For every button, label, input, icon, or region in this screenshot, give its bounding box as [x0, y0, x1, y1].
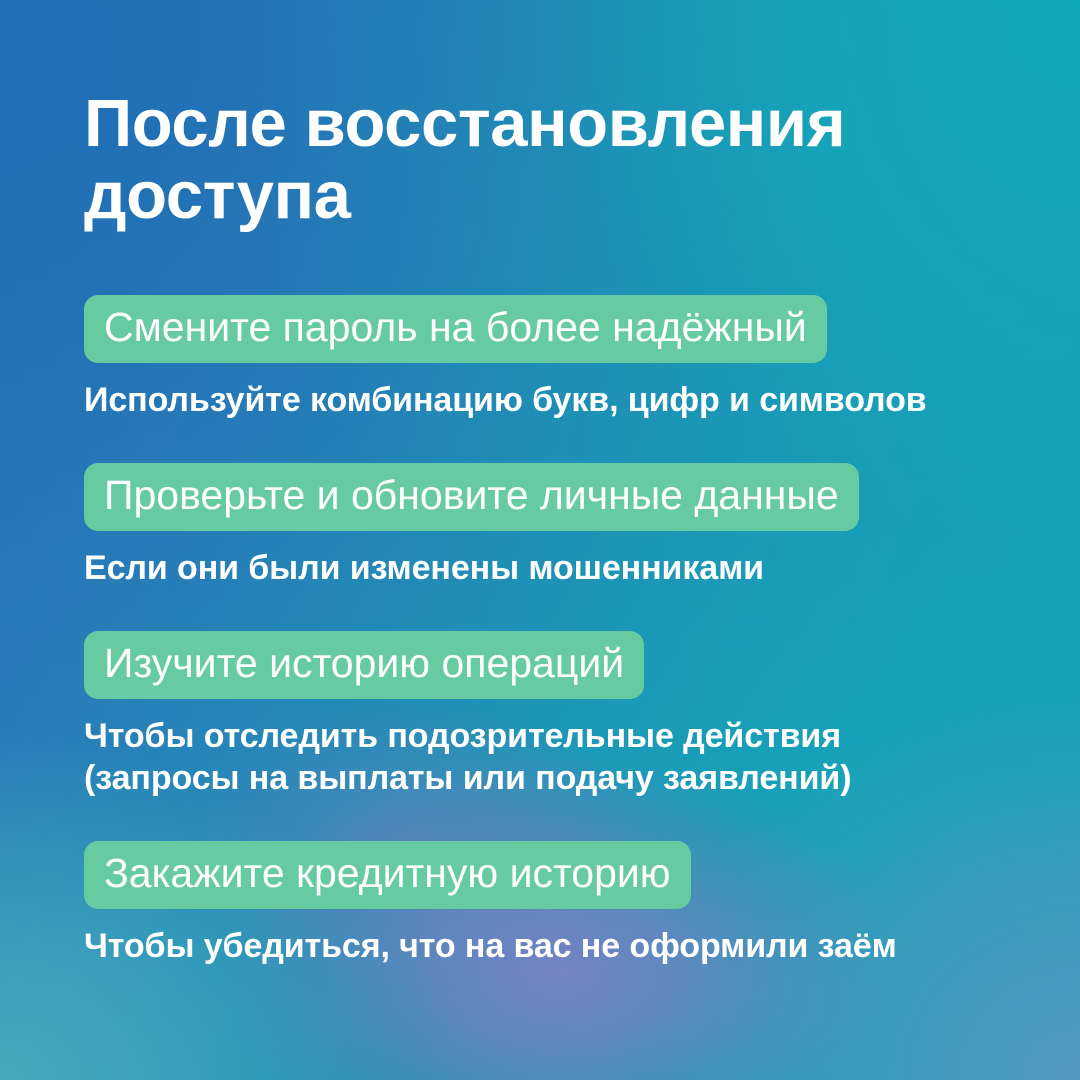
tip-description: Чтобы убедиться, что на вас не оформили …	[84, 909, 996, 967]
tip-description-line: Используйте комбинацию букв, цифр и симв…	[84, 379, 996, 421]
tip-description-line: Чтобы отследить подозрительные действия	[84, 715, 996, 757]
tip-description-line: Если они были изменены мошенниками	[84, 547, 996, 589]
tip-description: Если они были изменены мошенниками	[84, 531, 996, 589]
tip-description-line: Чтобы убедиться, что на вас не оформили …	[84, 925, 996, 967]
tip-description: Используйте комбинацию букв, цифр и симв…	[84, 363, 996, 421]
tip-headline-pill: Проверьте и обновите личные данные	[84, 463, 859, 531]
tip-item: Закажите кредитную историю Чтобы убедить…	[84, 841, 996, 967]
tips-list: Смените пароль на более надёжный Использ…	[84, 295, 996, 968]
tip-headline-pill: Изучите историю операций	[84, 631, 644, 699]
infographic-card: После восстановления доступа Смените пар…	[0, 0, 1080, 1080]
tip-headline-pill: Закажите кредитную историю	[84, 841, 691, 909]
tip-description: Чтобы отследить подозрительные действия …	[84, 699, 996, 799]
tip-item: Проверьте и обновите личные данные Если …	[84, 463, 996, 589]
page-title: После восстановления доступа	[84, 0, 996, 233]
tip-headline-pill: Смените пароль на более надёжный	[84, 295, 827, 363]
tip-item: Изучите историю операций Чтобы отследить…	[84, 631, 996, 799]
card-content: После восстановления доступа Смените пар…	[0, 0, 1080, 968]
tip-description-line: (запросы на выплаты или подачу заявлений…	[84, 757, 996, 799]
tip-item: Смените пароль на более надёжный Использ…	[84, 295, 996, 421]
